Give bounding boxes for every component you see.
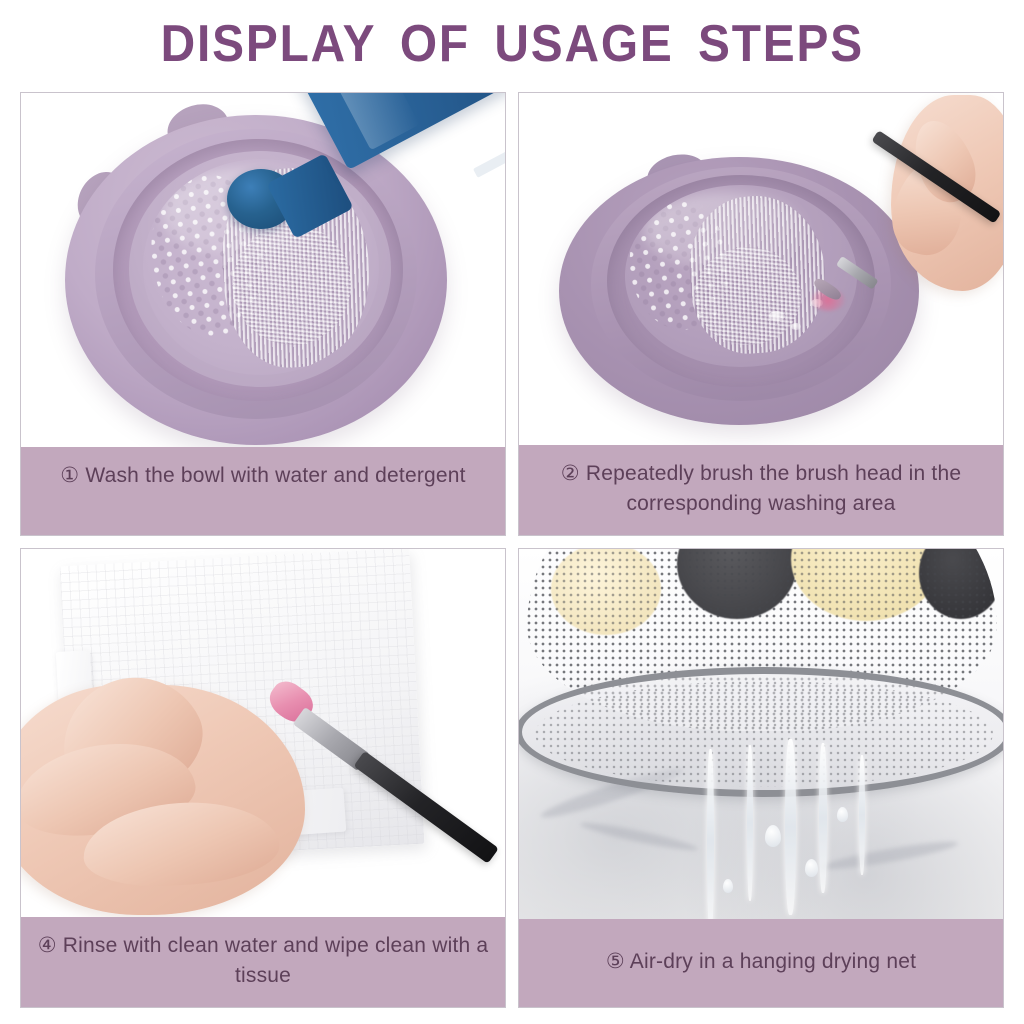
water-droplet (765, 825, 781, 847)
scene-hanging-drying-net (519, 549, 1003, 919)
step-card-1: ① Wash the bowl with water and detergent (20, 92, 506, 536)
water-stream (707, 749, 714, 919)
steps-grid: ① Wash the bowl with water and detergent (20, 92, 1004, 1008)
step-4-caption: ④ Rinse with clean water and wipe clean … (21, 917, 505, 1007)
step-2-photo (519, 93, 1003, 445)
step-1-caption: ① Wash the bowl with water and detergent (21, 447, 505, 535)
water-stream (785, 739, 796, 915)
water-droplet (837, 807, 848, 822)
texture-mat (625, 185, 857, 367)
suds-bubble (769, 311, 785, 321)
step-card-5: ⑤ Air-dry in a hanging drying net (518, 548, 1004, 1008)
scene-brush-scrubbing (519, 93, 1003, 445)
water-stream (747, 745, 753, 901)
step-5-photo (519, 549, 1003, 919)
scene-bowl-with-detergent (21, 93, 505, 447)
water-droplet (723, 879, 733, 893)
step-5-caption: ⑤ Air-dry in a hanging drying net (519, 919, 1003, 1007)
infographic-page: DISPLAY OF USAGE STEPS (0, 0, 1024, 1024)
scene-wipe-with-tissue (21, 549, 505, 917)
step-2-caption: ② Repeatedly brush the brush head in the… (519, 445, 1003, 535)
water-stream (819, 743, 827, 893)
water-stream (859, 755, 865, 875)
step-card-2: ② Repeatedly brush the brush head in the… (518, 92, 1004, 536)
step-card-4: ④ Rinse with clean water and wipe clean … (20, 548, 506, 1008)
net-mesh-floor (535, 681, 993, 787)
page-title: DISPLAY OF USAGE STEPS (160, 14, 863, 74)
mat-highlight (644, 192, 806, 268)
step-1-photo (21, 93, 505, 447)
step-4-photo (21, 549, 505, 917)
title-bar: DISPLAY OF USAGE STEPS (0, 0, 1024, 88)
suds-bubble (791, 323, 801, 330)
water-droplet (805, 859, 818, 877)
